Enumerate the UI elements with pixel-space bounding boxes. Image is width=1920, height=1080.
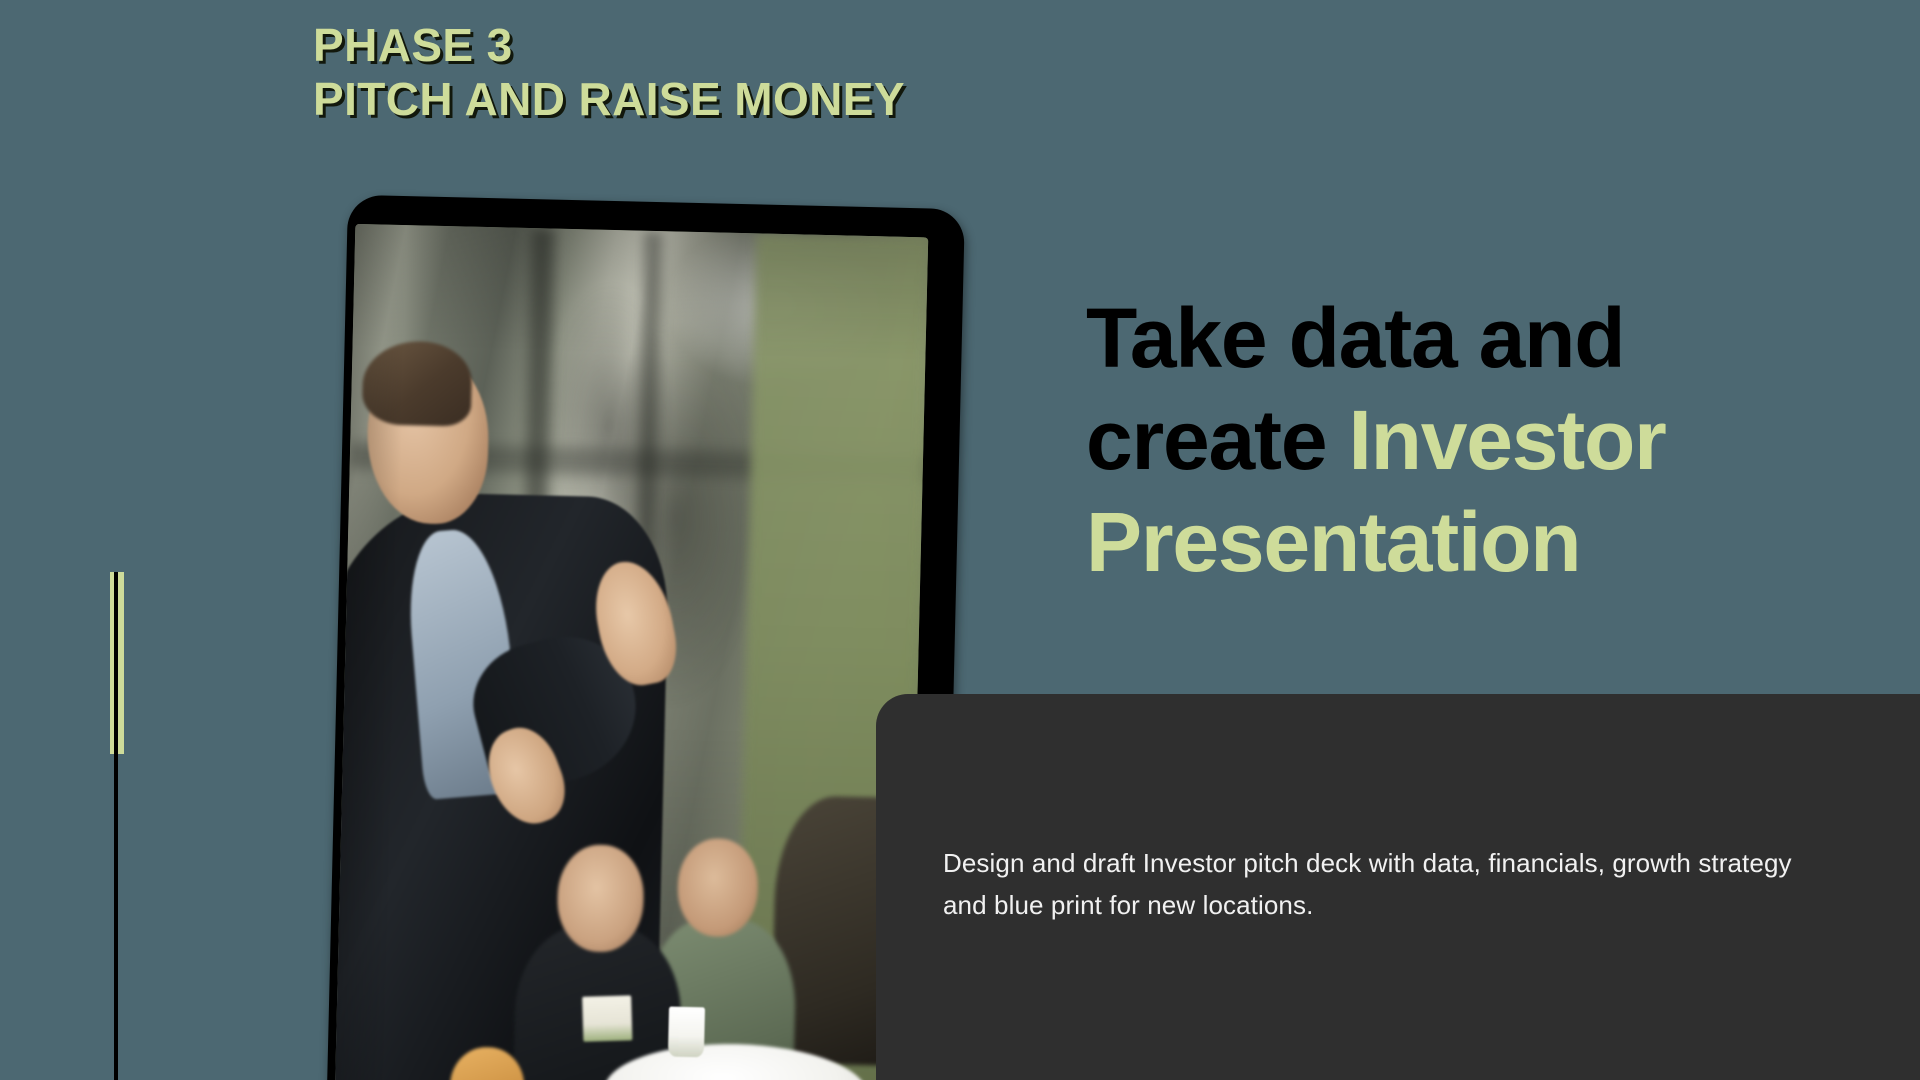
photo-vignette — [334, 224, 928, 1080]
phase-heading-line-1: PHASE 3 — [313, 18, 1213, 72]
description-text: Design and draft Investor pitch deck wit… — [943, 842, 1823, 926]
tablet-screen-photo — [334, 224, 928, 1080]
slide-canvas: PHASE 3 PITCH AND RAISE MONEY — [0, 0, 1920, 1080]
phase-heading-line-2: PITCH AND RAISE MONEY — [313, 72, 1213, 126]
black-accent-rule — [114, 572, 118, 1080]
tablet-device-mockup — [326, 195, 965, 1080]
phase-heading: PHASE 3 PITCH AND RAISE MONEY — [313, 18, 1213, 127]
description-card: Design and draft Investor pitch deck wit… — [876, 694, 1920, 1080]
headline: Take data and create Investor Presentati… — [1086, 288, 1806, 593]
